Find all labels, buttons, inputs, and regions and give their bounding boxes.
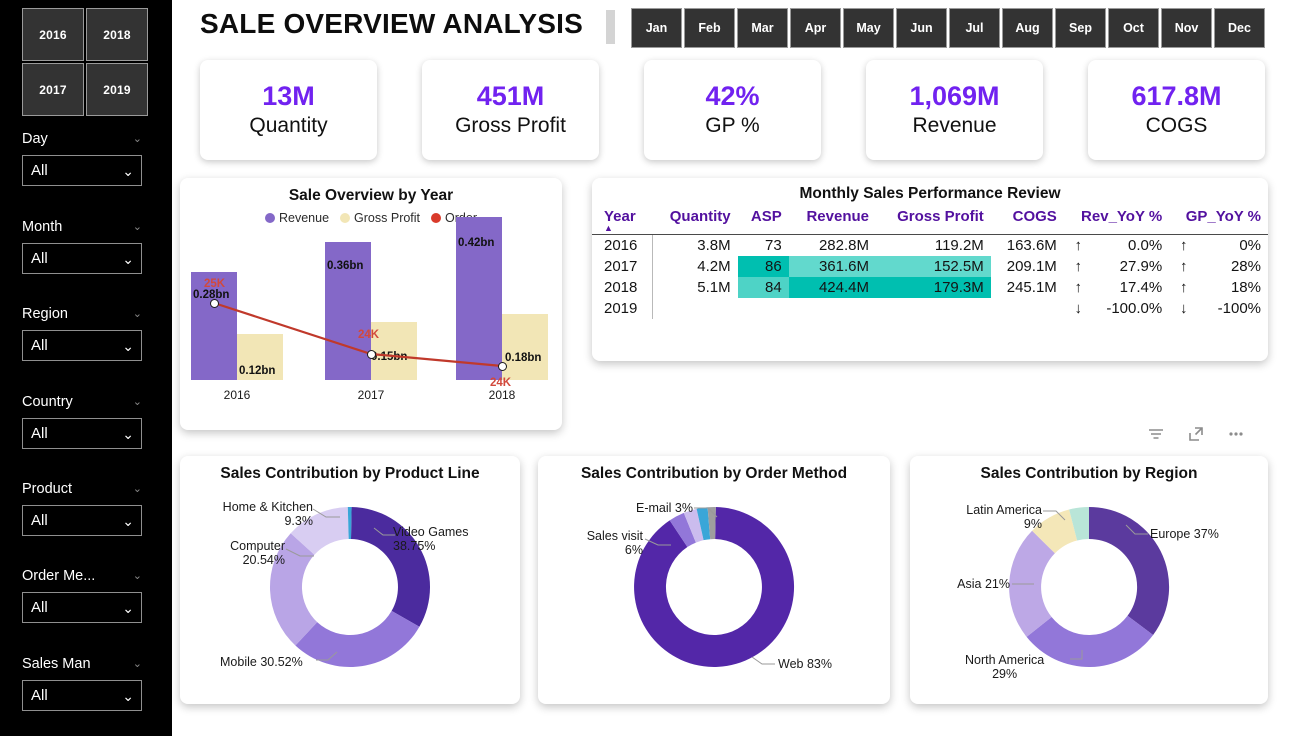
kpi-card-gp-percent[interactable]: 42% GP % <box>644 60 821 160</box>
cell-gp-yoy: 28% <box>1191 256 1268 277</box>
kpi-card-quantity[interactable]: 13M Quantity <box>200 60 377 160</box>
page-title: SALE OVERVIEW ANALYSIS <box>200 8 583 40</box>
donut-label-mobile: Mobile 30.52% <box>220 655 303 669</box>
cell-revenue: 282.8M <box>789 235 876 257</box>
slicer-month-dropdown[interactable]: All ⌄ <box>22 243 142 274</box>
cell-gp-yoy: 0% <box>1191 235 1268 257</box>
slicer-country-header: Country ⌄ <box>22 391 142 413</box>
column-header-revenue[interactable]: Revenue <box>789 207 876 235</box>
slicer-country: Country ⌄ All ⌄ <box>22 391 142 449</box>
chart-title: Sales Contribution by Region <box>910 465 1268 483</box>
donut-plot-area: Europe 37% Latin America9% Asia 21% Nort… <box>910 487 1268 693</box>
legend-item-revenue[interactable]: Revenue <box>265 211 329 225</box>
cell-rev-yoy: -100.0% <box>1086 298 1169 319</box>
chevron-down-icon: ⌄ <box>122 339 134 353</box>
table-row[interactable]: 2017 4.2M 86 361.6M 152.5M 209.1M ↑ 27.9… <box>592 256 1268 277</box>
cell-quantity: 4.2M <box>652 256 737 277</box>
cell-rev-yoy: 17.4% <box>1086 277 1169 298</box>
month-option-jan[interactable]: Jan <box>631 8 682 48</box>
column-header-cogs[interactable]: COGS <box>991 207 1064 235</box>
order-label-2018: 24K <box>490 377 511 389</box>
chevron-down-icon: ⌄ <box>122 601 134 615</box>
table-title: Monthly Sales Performance Review <box>592 185 1268 203</box>
cell-gross-profit: 152.5M <box>876 256 991 277</box>
cell-revenue <box>789 298 876 319</box>
legend-swatch-order <box>431 213 441 223</box>
column-header-quantity[interactable]: Quantity <box>652 207 737 235</box>
chevron-down-icon[interactable]: ⌄ <box>133 659 142 670</box>
slicer-sales-man-header: Sales Man ⌄ <box>22 653 142 675</box>
month-option-jun[interactable]: Jun <box>896 8 947 48</box>
trend-up-icon: ↑ <box>1169 256 1191 277</box>
slicer-day-label: Day <box>22 131 48 147</box>
slicer-country-value: All <box>31 425 48 442</box>
cell-rev-yoy: 0.0% <box>1086 235 1169 257</box>
table-row[interactable]: 2016 3.8M 73 282.8M 119.2M 163.6M ↑ 0.0%… <box>592 235 1268 257</box>
order-label-2017: 24K <box>358 329 379 341</box>
kpi-value-gp-percent: 42% <box>705 81 759 112</box>
kpi-label-revenue: Revenue <box>912 113 996 138</box>
trend-up-icon: ↑ <box>1064 235 1086 257</box>
kpi-value-cogs: 617.8M <box>1131 81 1221 112</box>
chevron-down-icon: ⌄ <box>122 427 134 441</box>
cell-cogs: 245.1M <box>991 277 1064 298</box>
cell-quantity <box>652 298 737 319</box>
x-axis-label-2016: 2016 <box>207 388 267 402</box>
month-option-aug[interactable]: Aug <box>1002 8 1053 48</box>
kpi-card-gross-profit[interactable]: 451M Gross Profit <box>422 60 599 160</box>
order-point-2016[interactable] <box>210 299 219 308</box>
slicer-order-method: Order Me... ⌄ All ⌄ <box>22 565 142 623</box>
month-option-feb[interactable]: Feb <box>684 8 735 48</box>
donut-label-email: E-mail 3% <box>583 501 693 515</box>
kpi-card-revenue[interactable]: 1,069M Revenue <box>866 60 1043 160</box>
slicer-region-label: Region <box>22 306 68 322</box>
chevron-down-icon[interactable]: ⌄ <box>133 222 142 233</box>
cell-gp-yoy: 18% <box>1191 277 1268 298</box>
kpi-card-row: 13M Quantity 451M Gross Profit 42% GP % … <box>200 60 1265 164</box>
title-divider <box>606 10 615 44</box>
slicer-product-value: All <box>31 512 48 529</box>
cell-year: 2017 <box>592 256 652 277</box>
sort-ascending-icon: ▲ <box>604 225 645 232</box>
slicer-sales-man-value: All <box>31 687 48 704</box>
chevron-down-icon[interactable]: ⌄ <box>133 484 142 495</box>
chevron-down-icon: ⌄ <box>122 689 134 703</box>
order-point-2017[interactable] <box>367 350 376 359</box>
legend-item-gross-profit[interactable]: Gross Profit <box>340 211 420 225</box>
slicer-sales-man-label: Sales Man <box>22 656 91 672</box>
month-option-nov[interactable]: Nov <box>1161 8 1212 48</box>
cell-cogs: 209.1M <box>991 256 1064 277</box>
sale-overview-by-year-chart[interactable]: Sale Overview by Year Revenue Gross Prof… <box>180 178 562 430</box>
column-header-year[interactable]: Year ▲ <box>592 207 652 235</box>
column-header-gross-profit[interactable]: Gross Profit <box>876 207 991 235</box>
cell-revenue: 424.4M <box>789 277 876 298</box>
legend-label-revenue: Revenue <box>279 211 329 225</box>
slicer-order-method-label: Order Me... <box>22 568 95 584</box>
kpi-value-gross-profit: 451M <box>477 81 545 112</box>
kpi-label-quantity: Quantity <box>249 113 327 138</box>
chart-title: Sale Overview by Year <box>180 187 562 205</box>
order-point-2018[interactable] <box>498 362 507 371</box>
chevron-down-icon: ⌄ <box>122 514 134 528</box>
sidebar-filter-panel: 2016 2018 2017 2019 Day ⌄ All ⌄ Month ⌄ … <box>0 0 172 736</box>
dashboard-header: SALE OVERVIEW ANALYSIS Jan Feb Mar Apr M… <box>172 0 1297 56</box>
donut-label-sales-visit: Sales visit6% <box>543 529 643 558</box>
slice-north-america[interactable] <box>1027 616 1154 667</box>
order-label-2016: 25K <box>204 278 225 290</box>
x-axis-label-2018: 2018 <box>472 388 532 402</box>
filter-icon[interactable] <box>1146 424 1166 444</box>
table-row[interactable]: 2018 5.1M 84 424.4M 179.3M 245.1M ↑ 17.4… <box>592 277 1268 298</box>
cell-year: 2016 <box>592 235 652 257</box>
bar-label-gross-profit-2016: 0.12bn <box>239 365 275 377</box>
donut-label-home-kitchen: Home & Kitchen9.3% <box>188 500 313 529</box>
year-option-2019[interactable]: 2019 <box>86 63 148 116</box>
slicer-order-method-value: All <box>31 599 48 616</box>
kpi-value-quantity: 13M <box>262 81 315 112</box>
month-option-apr[interactable]: Apr <box>790 8 841 48</box>
slicer-region-value: All <box>31 337 48 354</box>
cell-rev-yoy: 27.9% <box>1086 256 1169 277</box>
month-option-oct[interactable]: Oct <box>1108 8 1159 48</box>
cell-quantity: 5.1M <box>652 277 737 298</box>
month-option-sep[interactable]: Sep <box>1055 8 1106 48</box>
bar-label-revenue-2017: 0.36bn <box>327 260 363 272</box>
kpi-label-gp-percent: GP % <box>705 113 759 138</box>
cell-gross-profit <box>876 298 991 319</box>
cell-asp: 73 <box>738 235 789 257</box>
chevron-down-icon[interactable]: ⌄ <box>133 571 142 582</box>
slicer-sales-man: Sales Man ⌄ All ⌄ <box>22 653 142 711</box>
cell-asp <box>738 298 789 319</box>
donut-label-europe: Europe 37% <box>1150 527 1219 541</box>
slicer-region-dropdown[interactable]: All ⌄ <box>22 330 142 361</box>
legend-label-gross-profit: Gross Profit <box>354 211 420 225</box>
cell-cogs: 163.6M <box>991 235 1064 257</box>
slicer-month-label: Month <box>22 219 62 235</box>
cell-year: 2018 <box>592 277 652 298</box>
sales-contribution-by-region-chart[interactable]: Sales Contribution by Region Europe 37 <box>910 456 1268 704</box>
cell-year: 2019 <box>592 298 652 319</box>
cell-gross-profit: 119.2M <box>876 235 991 257</box>
slicer-month-header: Month ⌄ <box>22 216 142 238</box>
donut-label-web: Web 83% <box>778 657 832 671</box>
month-slicer[interactable]: Jan Feb Mar Apr May Jun Jul Aug Sep Oct … <box>631 8 1265 48</box>
chevron-down-icon[interactable]: ⌄ <box>133 134 142 145</box>
cell-gp-yoy: -100% <box>1191 298 1268 319</box>
slicer-day-header: Day ⌄ <box>22 128 142 150</box>
slicer-country-label: Country <box>22 394 73 410</box>
slicer-day-value: All <box>31 162 48 179</box>
column-header-asp[interactable]: ASP <box>738 207 789 235</box>
cell-asp: 86 <box>738 256 789 277</box>
chart-title: Sales Contribution by Order Method <box>538 465 890 483</box>
trend-down-icon: ↓ <box>1064 298 1086 319</box>
chevron-down-icon: ⌄ <box>122 252 134 266</box>
column-header-rev-yoy[interactable]: Rev_YoY % <box>1064 207 1169 235</box>
slicer-product-dropdown[interactable]: All ⌄ <box>22 505 142 536</box>
slicer-order-method-header: Order Me... ⌄ <box>22 565 142 587</box>
donut-label-latin-america: Latin America9% <box>922 503 1042 532</box>
cell-asp: 84 <box>738 277 789 298</box>
table-row[interactable]: 2019 ↓ -100.0% ↓ -100% <box>592 298 1268 319</box>
focus-mode-icon[interactable] <box>1186 424 1206 444</box>
kpi-label-cogs: COGS <box>1146 113 1208 138</box>
monthly-sales-performance-table[interactable]: Monthly Sales Performance Review Year ▲ … <box>592 178 1268 361</box>
performance-table: Year ▲ Quantity ASP Revenue Gross Profit… <box>592 207 1268 319</box>
donut-plot-area: Web 83% E-mail 3% Sales visit6% <box>538 487 890 693</box>
year-option-2017[interactable]: 2017 <box>22 63 84 116</box>
chart-legend: Revenue Gross Profit Order <box>180 211 562 225</box>
cell-gross-profit: 179.3M <box>876 277 991 298</box>
slicer-region-header: Region ⌄ <box>22 303 142 325</box>
slicer-order-method-dropdown[interactable]: All ⌄ <box>22 592 142 623</box>
trend-up-icon: ↑ <box>1064 277 1086 298</box>
x-axis-label-2017: 2017 <box>341 388 401 402</box>
slicer-sales-man-dropdown[interactable]: All ⌄ <box>22 680 142 711</box>
chevron-down-icon: ⌄ <box>122 164 134 178</box>
more-options-icon[interactable] <box>1226 424 1246 444</box>
bar-label-gross-profit-2017: 0.15bn <box>371 351 407 363</box>
trend-up-icon: ↑ <box>1169 235 1191 257</box>
kpi-card-cogs[interactable]: 617.8M COGS <box>1088 60 1265 160</box>
slicer-product-header: Product ⌄ <box>22 478 142 500</box>
month-option-jul[interactable]: Jul <box>949 8 1000 48</box>
month-option-mar[interactable]: Mar <box>737 8 788 48</box>
dashboard-root: 2016 2018 2017 2019 Day ⌄ All ⌄ Month ⌄ … <box>0 0 1297 736</box>
slicer-month: Month ⌄ All ⌄ <box>22 216 142 274</box>
cell-revenue: 361.6M <box>789 256 876 277</box>
donut-plot-area: Video Games38.75% Home & Kitchen9.3% Com… <box>180 487 520 693</box>
bar-label-gross-profit-2018: 0.18bn <box>505 352 541 364</box>
legend-swatch-revenue <box>265 213 275 223</box>
donut-label-asia: Asia 21% <box>910 577 1010 591</box>
donut-label-video-games: Video Games38.75% <box>393 525 469 554</box>
chevron-down-icon[interactable]: ⌄ <box>133 397 142 408</box>
trend-down-icon: ↓ <box>1169 298 1191 319</box>
slicer-region: Region ⌄ All ⌄ <box>22 303 142 361</box>
month-option-dec[interactable]: Dec <box>1214 8 1265 48</box>
trend-up-icon: ↑ <box>1064 256 1086 277</box>
year-option-2018[interactable]: 2018 <box>86 8 148 61</box>
chart-title: Sales Contribution by Product Line <box>180 465 520 483</box>
slicer-product: Product ⌄ All ⌄ <box>22 478 142 536</box>
slicer-country-dropdown[interactable]: All ⌄ <box>22 418 142 449</box>
kpi-label-gross-profit: Gross Profit <box>455 113 566 138</box>
slicer-day-dropdown[interactable]: All ⌄ <box>22 155 142 186</box>
bar-label-revenue-2018: 0.42bn <box>458 237 494 249</box>
sales-contribution-by-order-method-chart[interactable]: Sales Contribution by Order Method Web <box>538 456 890 704</box>
cell-cogs <box>991 298 1064 319</box>
column-header-gp-yoy[interactable]: GP_YoY % <box>1169 207 1268 235</box>
donut-label-north-america: North America29% <box>965 653 1044 682</box>
slicer-month-value: All <box>31 250 48 267</box>
donut-label-computer: Computer20.54% <box>180 539 285 568</box>
year-option-2016[interactable]: 2016 <box>22 8 84 61</box>
bar-gross-profit-2018[interactable] <box>502 314 548 380</box>
trend-up-icon: ↑ <box>1169 277 1191 298</box>
legend-swatch-gross-profit <box>340 213 350 223</box>
kpi-value-revenue: 1,069M <box>909 81 999 112</box>
slicer-product-label: Product <box>22 481 72 497</box>
slicer-day: Day ⌄ All ⌄ <box>22 128 142 186</box>
year-slicer[interactable]: 2016 2018 2017 2019 <box>22 8 148 116</box>
month-option-may[interactable]: May <box>843 8 894 48</box>
sales-contribution-by-product-line-chart[interactable]: Sales Contribution by Product Line Vid <box>180 456 520 704</box>
chart-plot-area: 0.28bn 0.12bn 2016 0.36bn 0.15bn 2017 0.… <box>180 225 562 410</box>
cell-quantity: 3.8M <box>652 235 737 257</box>
visual-toolbar <box>1146 424 1246 444</box>
chevron-down-icon[interactable]: ⌄ <box>133 309 142 320</box>
